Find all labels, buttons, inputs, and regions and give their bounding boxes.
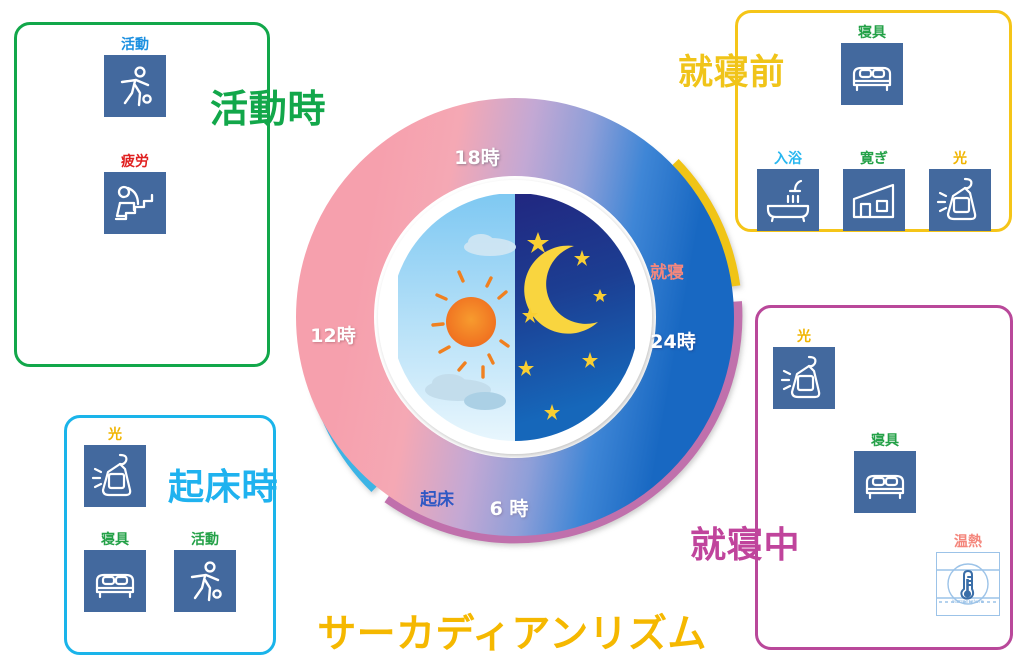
tile-caption: 寝具 [84,533,146,548]
bed-icon [854,451,916,513]
tile-before-bedding: 寝具 [841,26,903,105]
tile-wake-bedding: 寝具 [84,533,146,612]
tile-sleeping-light: 光 [773,330,835,409]
tile-active-activity: 活動 [104,38,166,117]
clock-label-6: 6 時 [490,494,529,521]
tile-sleeping-bedding: 寝具 [854,434,916,513]
panel-title-sleeping: 就寝中 [690,516,800,568]
tile-before-relax: 寛ぎ [843,152,905,231]
circadian-clock [280,82,750,552]
clock-label-24: 24時 [650,327,695,354]
tile-caption: 温熱 [936,535,1000,550]
bathtub-shower-icon [757,169,819,231]
svg-text:temperature: temperature [952,599,983,605]
tile-caption: 活動 [104,38,166,53]
infographic-canvas: 活動時 活動 疲労 就寝前 寝具 [0,0,1024,670]
tired-person-stairs-icon [104,172,166,234]
tile-caption: 入浴 [757,152,819,167]
tile-wake-light: 光 [84,428,146,507]
tile-wake-activity: 活動 [174,533,236,612]
bed-icon [84,550,146,612]
tile-caption: 寛ぎ [843,152,905,167]
panel-title-before-bed: 就寝前 [678,44,785,95]
running-person-icon [174,550,236,612]
tile-before-light: 光 [929,152,991,231]
clock-label-18: 18時 [454,143,499,170]
thermometer-icon: temperature [936,552,1000,616]
clock-label-12: 12時 [310,321,355,348]
panel-title-wake-up: 起床時 [168,458,278,510]
bed-icon [841,43,903,105]
tile-caption: 光 [929,152,991,167]
tile-active-fatigue: 疲労 [104,155,166,234]
tile-caption: 光 [84,428,146,443]
tile-before-bath: 入浴 [757,152,819,231]
clock-label-sleep: 就寝 [650,258,684,283]
tile-caption: 光 [773,330,835,345]
panel-title-active: 活動時 [210,78,326,133]
page-title: サーカディアンリズム [317,603,707,659]
hanging-lamp-icon [84,445,146,507]
tile-caption: 寝具 [854,434,916,449]
clock-label-rise: 起床 [420,485,454,510]
tile-sleeping-thermal: 温熱 temperature [936,535,1000,616]
running-person-icon [104,55,166,117]
tile-caption: 疲労 [104,155,166,170]
house-relax-icon [843,169,905,231]
hanging-lamp-icon [773,347,835,409]
tile-caption: 活動 [174,533,236,548]
hanging-lamp-icon [929,169,991,231]
tile-caption: 寝具 [841,26,903,41]
clock-svg [280,82,750,552]
